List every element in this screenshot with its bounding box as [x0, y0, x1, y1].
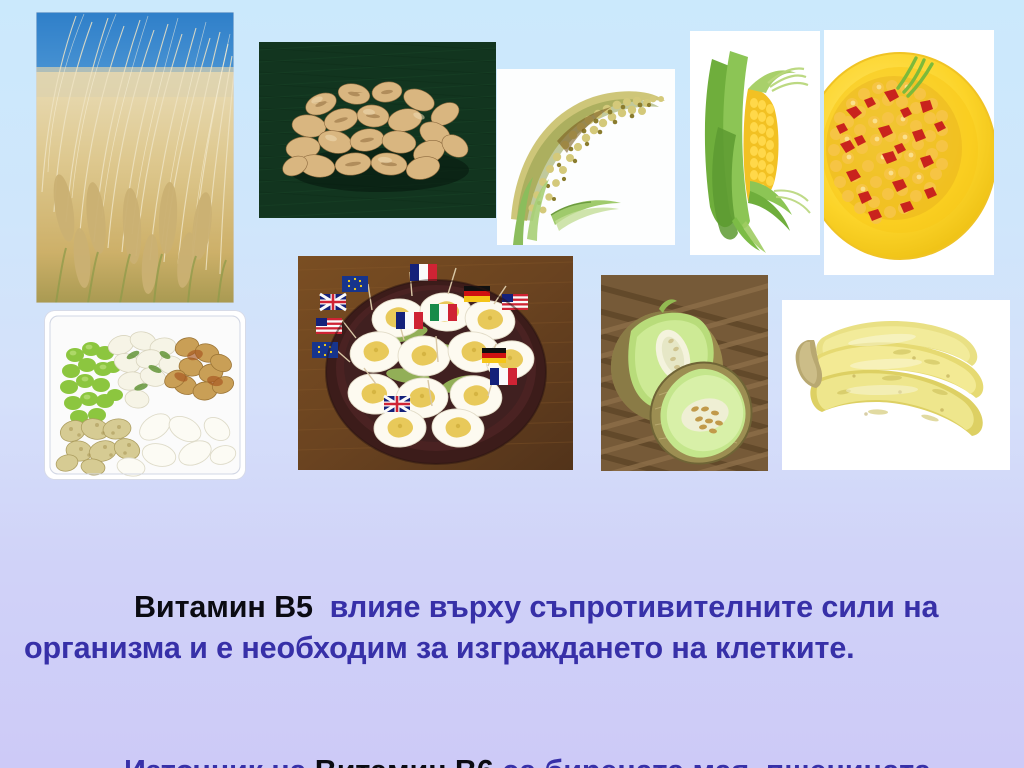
- beans-mix-photo: [45, 311, 245, 479]
- paragraph-b6-lead: Източник на: [124, 754, 315, 768]
- vitamin-b6-emphasis: Витамин B6: [315, 754, 494, 768]
- corn-salad-photo: [824, 30, 994, 275]
- wheat-grains-photo: [259, 42, 496, 218]
- slide-canvas: Витамин B5 влияе върху съпротивителните …: [0, 0, 1024, 768]
- paragraph-vitamin-b6: Източник на Витамин B6 са бирената мая, …: [24, 751, 1000, 768]
- millet-spike-photo: [497, 69, 675, 245]
- deviled-eggs-photo: [298, 256, 573, 470]
- melon-photo: [601, 275, 768, 471]
- paragraph-vitamin-b5: Витамин B5 влияе върху съпротивителните …: [24, 587, 1000, 669]
- vitamin-b5-emphasis: Витамин B5: [134, 590, 313, 624]
- bananas-photo: [782, 300, 1010, 470]
- corn-cob-photo: [690, 31, 820, 255]
- wheat-field-photo: [36, 12, 234, 303]
- slide-text-block: Витамин B5 влияе върху съпротивителните …: [24, 505, 1000, 768]
